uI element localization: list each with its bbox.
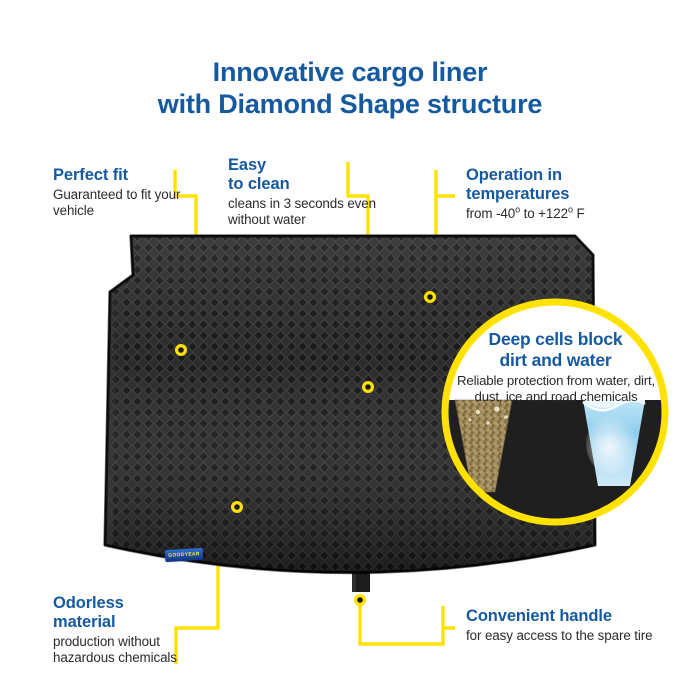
- callout-temperatures-heading-line-1: Operation in: [466, 166, 562, 184]
- dot-perfect-fit: [177, 346, 186, 355]
- callout-easy-to-clean: Easy to clean cleans in 3 seconds even w…: [228, 156, 378, 228]
- inset-subtext-line-2: dust, ice and road chemicals: [475, 389, 638, 404]
- title-line-2: with Diamond Shape structure: [0, 88, 700, 120]
- callout-convenient-handle: Convenient handle for easy access to the…: [466, 607, 686, 644]
- dot-temperatures: [426, 293, 435, 302]
- temp-unit: F: [573, 206, 585, 221]
- inset-heading-line-2: dirt and water: [500, 350, 612, 370]
- page-title: Innovative cargo liner with Diamond Shap…: [0, 56, 700, 120]
- callout-odorless-material-heading-line-2: material: [53, 613, 116, 631]
- callout-temperatures-heading: Operation in temperatures: [466, 166, 646, 204]
- callout-convenient-handle-subtext: for easy access to the spare tire: [466, 628, 686, 644]
- inset-heading-line-1: Deep cells block: [489, 329, 623, 349]
- dot-easy-to-clean: [364, 383, 373, 392]
- title-line-1: Innovative cargo liner: [213, 57, 488, 87]
- goodyear-brand-badge-label: GOODYEAR: [165, 548, 204, 562]
- callout-perfect-fit-heading: Perfect fit: [53, 166, 203, 185]
- callout-easy-to-clean-heading-line-1: Easy: [228, 156, 266, 174]
- inset-subtext-line-1: Reliable protection from water, dirt,: [457, 373, 655, 388]
- callout-odorless-material-heading-line-1: Odorless: [53, 594, 124, 612]
- leader-convenient-handle: [360, 600, 455, 644]
- callout-easy-to-clean-heading-line-2: to clean: [228, 175, 290, 193]
- temp-range-min: from -40: [466, 206, 515, 221]
- callout-temperatures-heading-line-2: temperatures: [466, 185, 569, 203]
- callout-perfect-fit-subtext: Guaranteed to fit your vehicle: [53, 187, 203, 219]
- inset-subtext: Reliable protection from water, dirt, du…: [437, 373, 675, 405]
- infographic-canvas: Innovative cargo liner with Diamond Shap…: [0, 0, 700, 700]
- callout-odorless-material-heading: Odorless material: [53, 594, 213, 632]
- callout-perfect-fit: Perfect fit Guaranteed to fit your vehic…: [53, 166, 203, 219]
- inset-heading: Deep cells block dirt and water: [443, 329, 668, 370]
- callout-odorless-material: Odorless material production without haz…: [53, 594, 213, 666]
- goodyear-brand-badge: GOODYEAR: [165, 548, 204, 562]
- callout-temperatures: Operation in temperatures from -40o to +…: [466, 166, 646, 222]
- callout-odorless-material-subtext: production without hazardous chemicals: [53, 634, 213, 666]
- callout-convenient-handle-heading: Convenient handle: [466, 607, 686, 626]
- callout-easy-to-clean-heading: Easy to clean: [228, 156, 378, 194]
- dot-convenient-handle: [356, 596, 365, 605]
- temp-range-sep: to +122: [520, 206, 568, 221]
- callout-temperatures-subtext: from -40o to +122o F: [466, 206, 646, 222]
- callout-easy-to-clean-subtext: cleans in 3 seconds even without water: [228, 196, 378, 228]
- dot-odorless-material: [233, 503, 242, 512]
